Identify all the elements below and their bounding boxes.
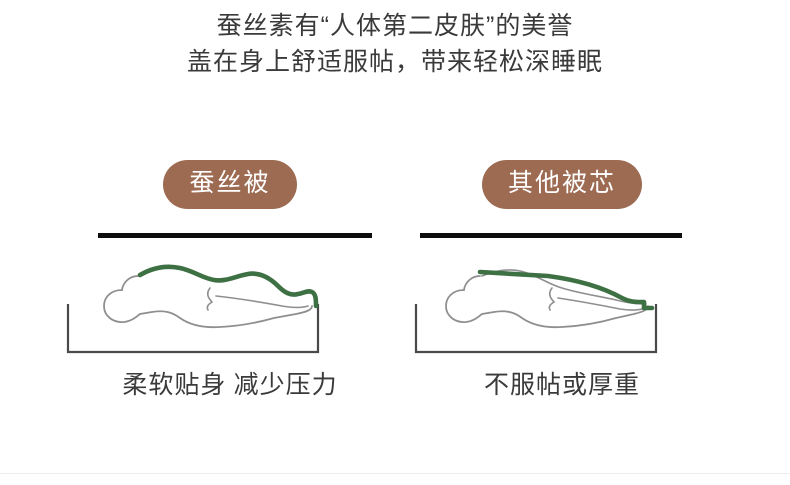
body-arm-detail <box>207 288 212 310</box>
divider-rule-silk-quilt <box>98 233 372 238</box>
headline-line-1: 蚕丝素有“人体第二皮肤”的美誉 <box>0 8 790 44</box>
illustration-sleeper-with-stiff-quilt <box>382 248 742 358</box>
badge-other-quilt-core: 其他被芯 <box>482 160 642 209</box>
comparison-section: 蚕丝被 柔软贴身 减少压力 其他被芯 <box>0 160 790 410</box>
divider-rule-other-quilt-core <box>420 233 682 238</box>
comparison-panel-other-quilt-core: 其他被芯 不服帖或厚重 <box>382 160 742 410</box>
comparison-panel-silk-quilt: 蚕丝被 柔软贴身 减少压力 <box>50 160 410 410</box>
caption-other-quilt-core: 不服帖或厚重 <box>382 365 742 401</box>
headline-line-2: 盖在身上舒适服帖，带来轻松深睡眠 <box>0 44 790 80</box>
badge-row-silk-quilt: 蚕丝被 <box>50 160 410 209</box>
badge-silk-quilt: 蚕丝被 <box>163 160 296 209</box>
caption-silk-quilt: 柔软贴身 减少压力 <box>50 365 410 401</box>
bed-frame-outline <box>416 304 656 352</box>
body-outline-head-left <box>464 276 480 290</box>
bottom-divider-strip <box>0 473 790 485</box>
badge-row-other-quilt-core: 其他被芯 <box>382 160 742 209</box>
body-leg-detail <box>216 296 308 308</box>
illustration-sleeper-with-conforming-quilt <box>50 248 410 358</box>
quilt-contour-green <box>140 267 316 306</box>
body-outline-head-left <box>122 276 138 290</box>
body-arm-detail <box>549 288 554 310</box>
headline-block: 蚕丝素有“人体第二皮肤”的美誉 盖在身上舒适服帖，带来轻松深睡眠 <box>0 8 790 80</box>
